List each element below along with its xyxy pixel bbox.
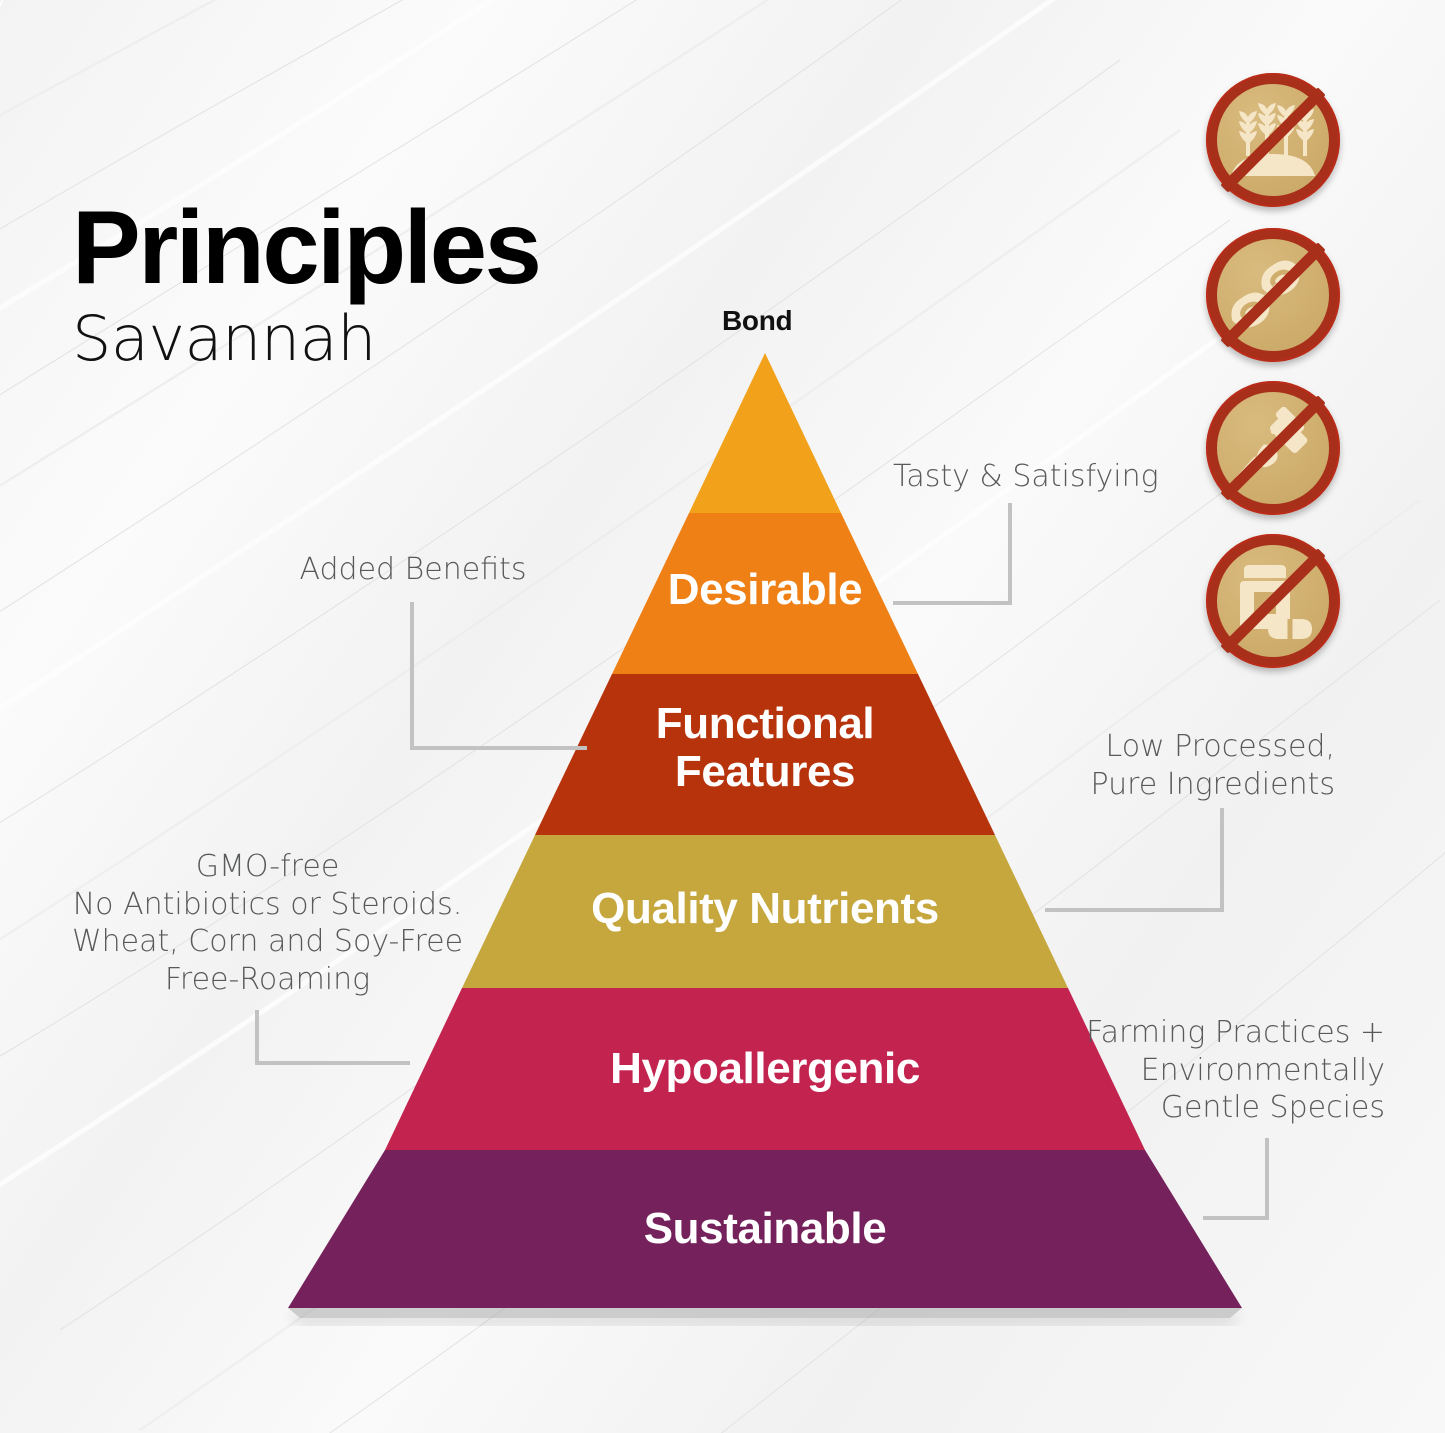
connector-added-benefits (412, 604, 585, 748)
callout-gmo-free: GMO-free No Antibiotics or Steroids. Whe… (45, 848, 490, 998)
tier-label-nutrients: Quality Nutrients (505, 885, 1025, 933)
badge-no-soy[interactable] (1206, 228, 1340, 362)
connector-low-processed (1047, 810, 1222, 910)
callout-farming-practices: Farming Practices + Environmentally Gent… (1040, 1014, 1385, 1127)
tier-label-functional: Functional Features (565, 700, 965, 797)
page-subtitle: Savannah (72, 308, 544, 370)
pyramid-apex-label: Bond (722, 305, 792, 337)
pyramid-tier-top (689, 353, 841, 513)
badge-no-hormones[interactable] (1206, 381, 1340, 515)
badge-no-grain[interactable] (1206, 73, 1340, 207)
callout-low-processed: Low Processed, Pure Ingredients (1000, 728, 1335, 803)
tier-label-sustainable: Sustainable (505, 1205, 1025, 1253)
badge-no-medications[interactable] (1206, 534, 1340, 668)
heading-block: Principles Savannah (72, 196, 544, 370)
pyramid-shadow (288, 1308, 1242, 1318)
callout-tasty-satisfying: Tasty & Satisfying (893, 458, 1193, 496)
tier-label-hypoallergenic: Hypoallergenic (505, 1045, 1025, 1093)
tier-label-desirable: Desirable (565, 566, 965, 614)
callout-added-benefits: Added Benefits (248, 551, 578, 589)
page-title: Principles (72, 196, 539, 300)
connector-gmo-free (257, 1012, 408, 1063)
connector-farming (1205, 1140, 1267, 1218)
infographic-canvas: Principles Savannah (0, 0, 1445, 1433)
